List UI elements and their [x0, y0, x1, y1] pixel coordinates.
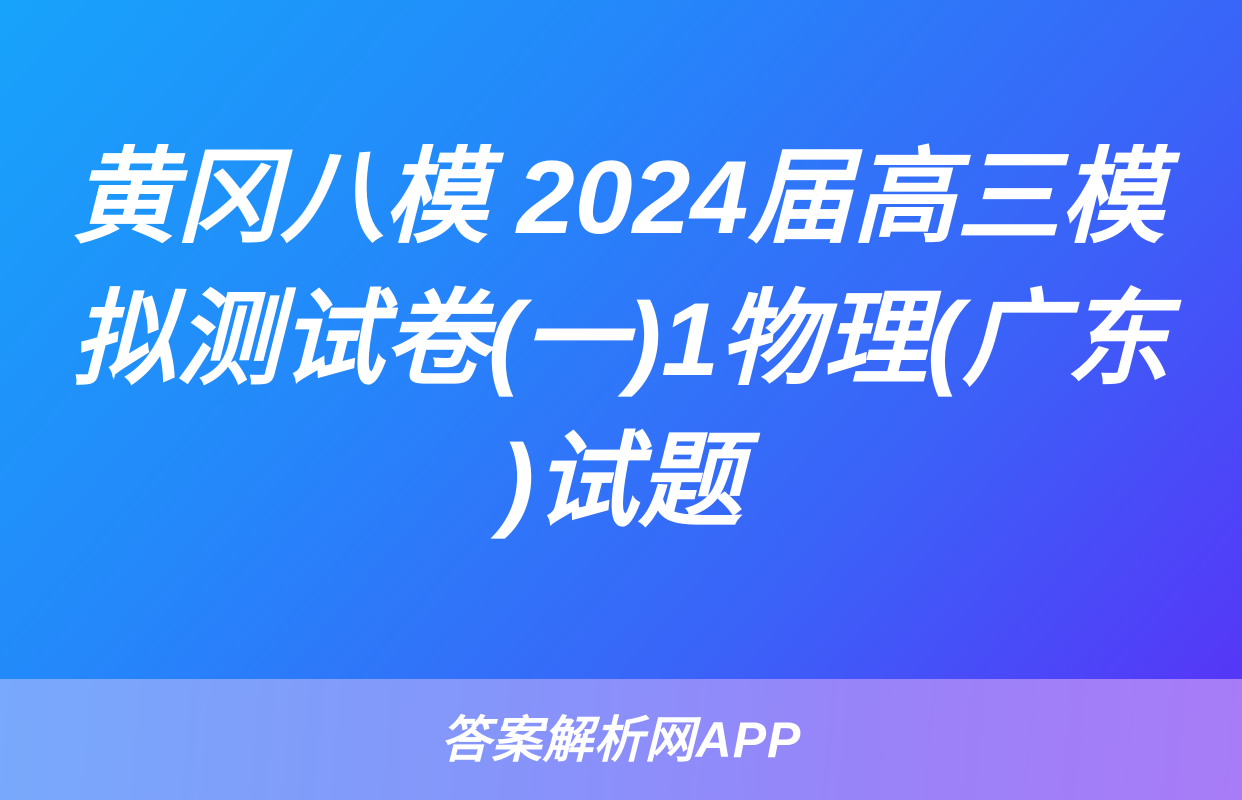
- page-title: 黄冈八模 2024届高三模 拟测试卷(一)1物理(广东 )试题: [72, 127, 1170, 553]
- brand-footer-band: 答案解析网APP: [0, 679, 1242, 800]
- title-line-3: )试题: [72, 411, 1170, 553]
- title-line-2: 拟测试卷(一)1物理(广东: [72, 269, 1170, 411]
- brand-app-label: 答案解析网APP: [441, 715, 802, 765]
- poster-card: 黄冈八模 2024届高三模 拟测试卷(一)1物理(广东 )试题 答案解析网APP: [0, 0, 1242, 800]
- title-line-1: 黄冈八模 2024届高三模: [72, 127, 1170, 269]
- title-stage: 黄冈八模 2024届高三模 拟测试卷(一)1物理(广东 )试题: [0, 0, 1242, 679]
